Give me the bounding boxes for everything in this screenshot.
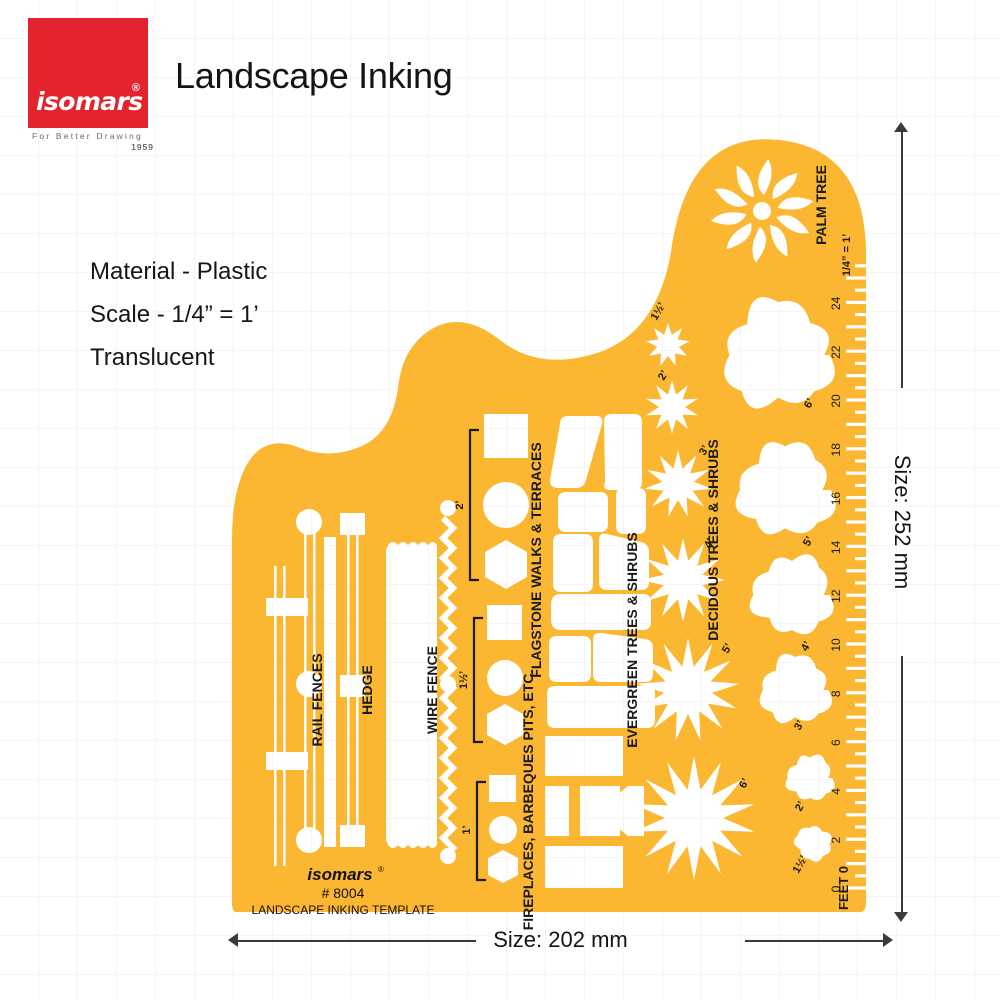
ruler-tick-label: 10: [829, 638, 843, 652]
width-dimension: Size: 202 mm: [228, 928, 893, 954]
ruler-tick-label: 14: [829, 540, 843, 554]
label-wire-fence: WIRE FENCE: [424, 646, 440, 734]
height-dimension-label: Size: 252 mm: [889, 455, 915, 590]
ruler-tick-label: 4: [829, 788, 843, 795]
label-hedge: HEDGE: [359, 665, 375, 715]
stencil-model: # 8004: [322, 885, 365, 901]
paver-size-label: 1’: [461, 825, 473, 834]
product-spec-page: isomars ® For Better Drawing 1959 Landsc…: [0, 0, 1000, 1000]
ruler-tick-label: 18: [829, 443, 843, 457]
ruler-tick-label: 2: [829, 837, 843, 844]
label-ruler-scale: 1/4” = 1’: [841, 234, 853, 277]
ruler-tick-label: 0: [829, 885, 843, 892]
ruler-tick-label: 6: [829, 739, 843, 746]
label-fireplaces: FIREPLACES, BARBEQUES PITS, ETC.: [520, 670, 536, 931]
ruler-tick-label: 16: [829, 492, 843, 506]
label-palm-tree: PALM TREE: [813, 165, 829, 245]
dimension-line-bottom: [901, 656, 903, 914]
arrow-down-icon: [894, 912, 908, 922]
arrow-right-icon: [883, 933, 893, 947]
label-flagstone-walks: FLAGSTONE WALKS & TERRACES: [528, 442, 544, 677]
label-rail-fences: RAIL FENCES: [309, 653, 325, 746]
label-evergreen-trees: EVERGREEN TREES & SHRUBS: [624, 532, 640, 747]
ruler-tick-label: 24: [829, 296, 843, 310]
stencil-brand: isomars: [307, 865, 372, 884]
stencil-illustration: RAIL FENCES HEDGE WIRE FENCE FLAGSTONE W…: [0, 0, 1000, 1000]
dimension-line-right: [745, 940, 885, 942]
dimension-line-top: [901, 130, 903, 388]
paver-size-label: 2’: [454, 500, 466, 509]
ruler-tick-label: 22: [829, 345, 843, 359]
stencil-body: [232, 139, 866, 912]
ruler-tick-label: 20: [829, 394, 843, 408]
height-dimension: Size: 252 mm: [888, 122, 916, 922]
paver-size-label: 1½’: [458, 671, 470, 689]
stencil-brand-reg: ®: [378, 865, 384, 874]
ruler-tick-label: 12: [829, 589, 843, 603]
ruler-tick-label: 8: [829, 690, 843, 697]
stencil-template-name: LANDSCAPE INKING TEMPLATE: [252, 903, 435, 917]
